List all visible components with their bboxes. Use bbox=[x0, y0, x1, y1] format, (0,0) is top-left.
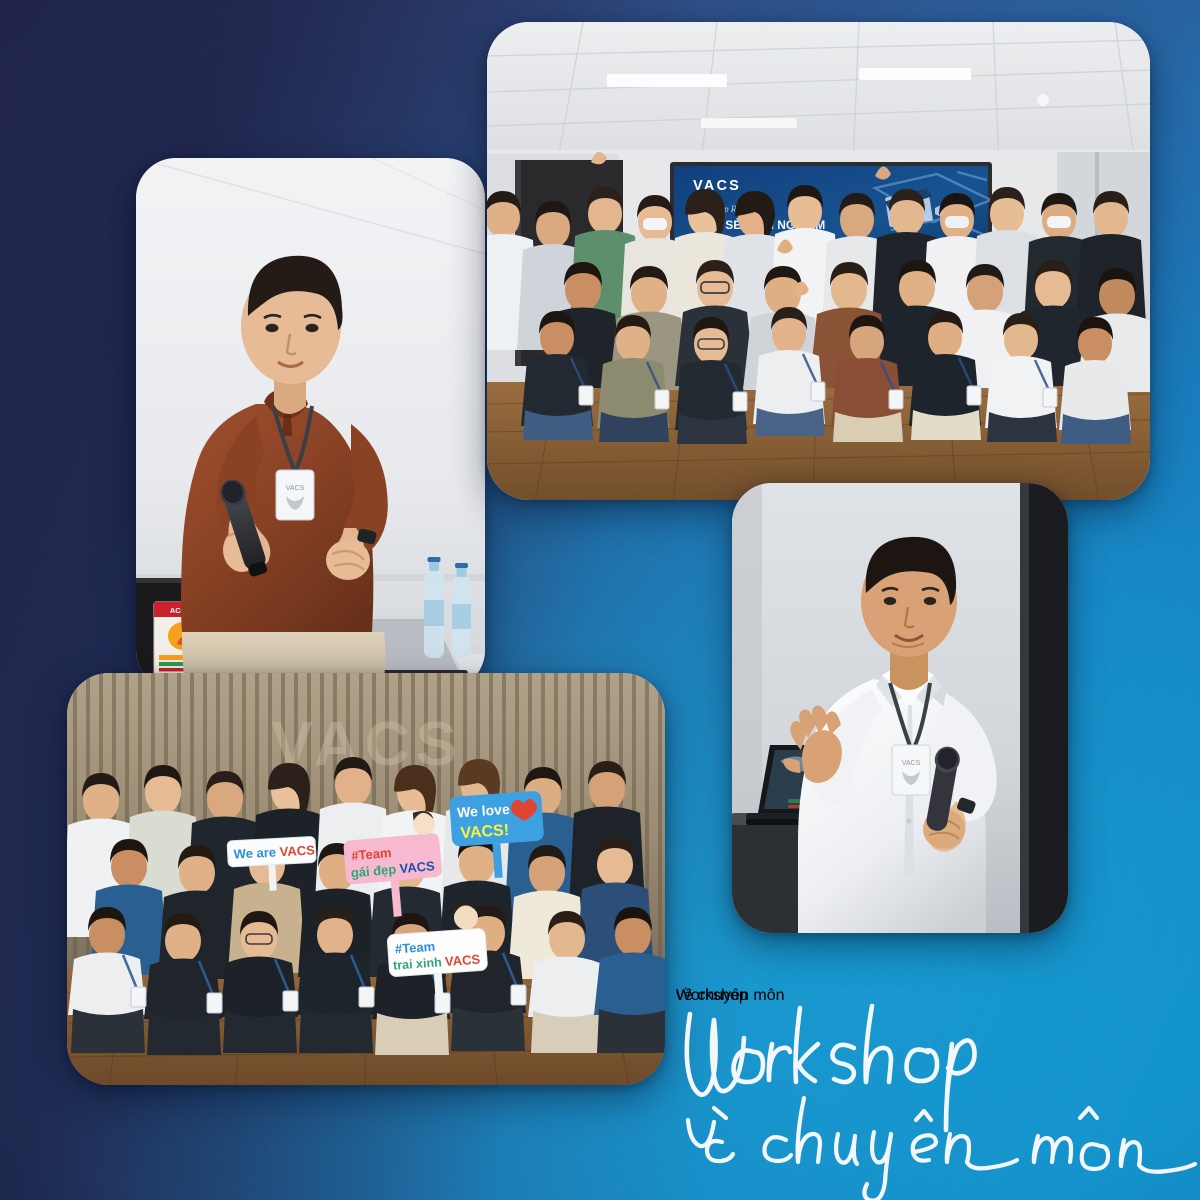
poster-canvas: ACNDS bbox=[0, 0, 1200, 1200]
headline-line2-text: về chuyên môn bbox=[676, 987, 785, 1004]
headline-svg: Workshop về chuyên môn bbox=[676, 1000, 1176, 1178]
headline-line1-strokes bbox=[687, 1006, 975, 1130]
headline-script: Workshop về chuyên môn bbox=[676, 1000, 1176, 1178]
